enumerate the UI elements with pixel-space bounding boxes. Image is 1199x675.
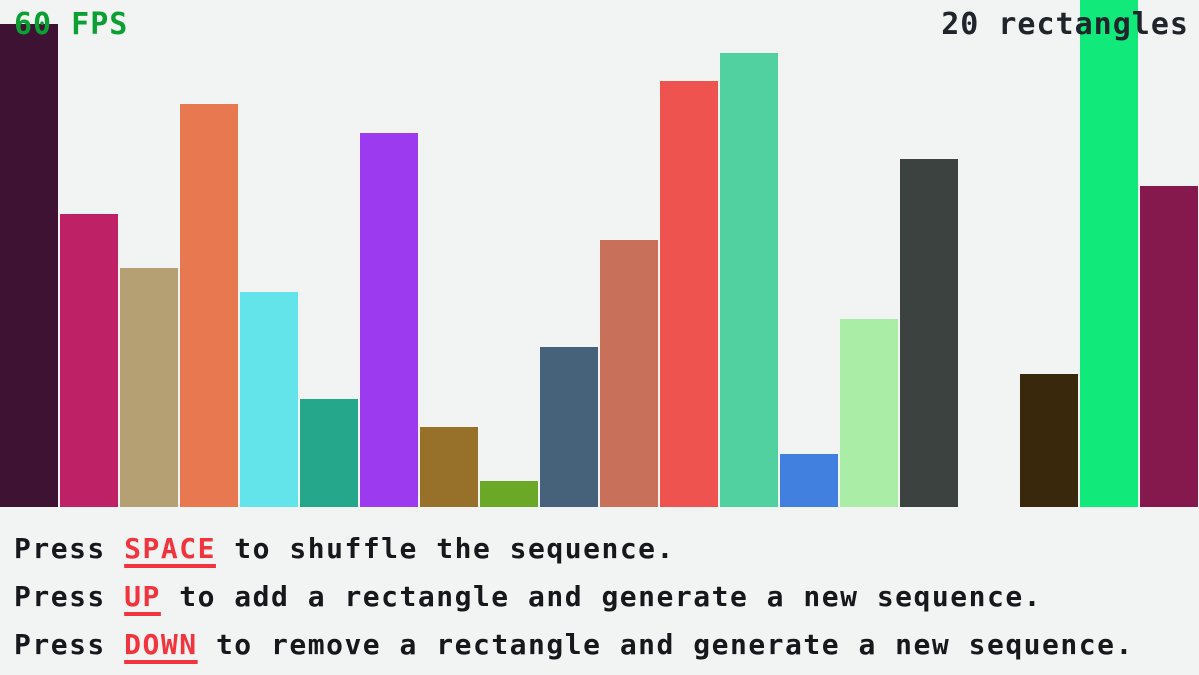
bar-11-terracotta[interactable] bbox=[600, 240, 658, 507]
instruction-line-3: Press DOWN to remove a rectangle and gen… bbox=[14, 621, 1199, 669]
instruction-line-1: Press SPACE to shuffle the sequence. bbox=[14, 525, 1199, 573]
bar-14-blue[interactable] bbox=[780, 454, 838, 507]
key-hint-up[interactable]: UP bbox=[124, 580, 161, 613]
bar-20-dark-magenta[interactable] bbox=[1140, 186, 1198, 507]
instruction-prefix: Press bbox=[14, 580, 124, 613]
rectangle-sequence-chart[interactable] bbox=[0, 0, 1199, 515]
instructions-panel: Press SPACE to shuffle the sequence.Pres… bbox=[0, 515, 1199, 675]
bar-8-brown[interactable] bbox=[420, 427, 478, 507]
bar-15-light-green[interactable] bbox=[840, 319, 898, 507]
instruction-line-2: Press UP to add a rectangle and generate… bbox=[14, 573, 1199, 621]
key-hint-space[interactable]: SPACE bbox=[124, 532, 216, 565]
bar-1-dark-plum[interactable] bbox=[0, 24, 58, 507]
instruction-prefix: Press bbox=[14, 628, 124, 661]
instruction-prefix: Press bbox=[14, 532, 124, 565]
bar-18-dark-brown[interactable] bbox=[1020, 374, 1078, 507]
bar-4-orange[interactable] bbox=[180, 104, 238, 507]
bar-13-mint-green[interactable] bbox=[720, 53, 778, 507]
bar-16-charcoal[interactable] bbox=[900, 159, 958, 507]
bar-9-olive-green[interactable] bbox=[480, 481, 538, 507]
bar-12-red[interactable] bbox=[660, 81, 718, 507]
rectangle-count-label: 20 rectangles bbox=[941, 10, 1189, 40]
bar-7-purple[interactable] bbox=[360, 133, 418, 507]
instruction-suffix: to remove a rectangle and generate a new… bbox=[198, 628, 1134, 661]
instruction-suffix: to shuffle the sequence. bbox=[216, 532, 675, 565]
fps-counter: 60 FPS bbox=[14, 10, 128, 40]
bar-19-bright-green[interactable] bbox=[1080, 0, 1138, 507]
bar-5-cyan[interactable] bbox=[240, 292, 298, 507]
bar-2-crimson-pink[interactable] bbox=[60, 214, 118, 507]
bar-3-tan[interactable] bbox=[120, 268, 178, 507]
app-screen: 60 FPS 20 rectangles Press SPACE to shuf… bbox=[0, 0, 1199, 675]
instruction-suffix: to add a rectangle and generate a new se… bbox=[161, 580, 1042, 613]
bar-10-slate-blue[interactable] bbox=[540, 347, 598, 507]
key-hint-down[interactable]: DOWN bbox=[124, 628, 197, 661]
bar-6-teal[interactable] bbox=[300, 399, 358, 507]
